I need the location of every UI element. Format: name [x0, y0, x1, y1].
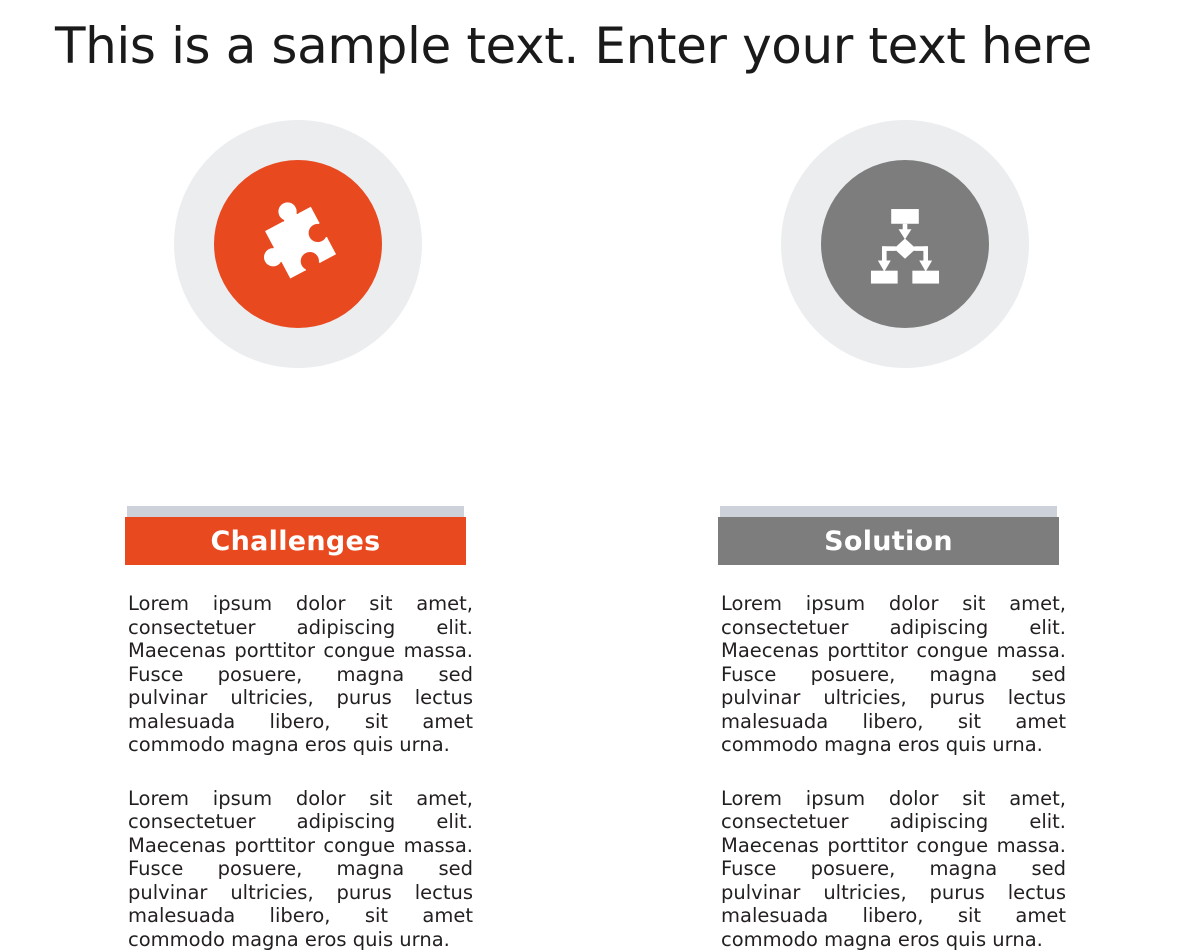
solution-header-label: Solution	[824, 526, 953, 557]
flowchart-hierarchy-icon	[859, 198, 951, 290]
column-solution: Solution Lorem ipsum dolor sit amet, con…	[703, 120, 1073, 368]
column-challenges: Challenges Lorem ipsum dolor sit amet, c…	[110, 120, 480, 368]
icon-disc-orange	[214, 160, 382, 328]
challenges-paragraph-2: Lorem ipsum dolor sit amet, consectetuer…	[128, 787, 473, 951]
page-title: This is a sample text. Enter your text h…	[55, 16, 1125, 76]
solution-header-bar: Solution	[718, 517, 1059, 565]
challenges-body-text: Lorem ipsum dolor sit amet, consectetuer…	[128, 592, 473, 951]
challenges-icon-badge	[174, 120, 422, 368]
puzzle-piece-icon	[250, 196, 346, 292]
challenges-header-bar: Challenges	[125, 517, 466, 565]
solution-paragraph-1: Lorem ipsum dolor sit amet, consectetuer…	[721, 592, 1066, 757]
solution-paragraph-2: Lorem ipsum dolor sit amet, consectetuer…	[721, 787, 1066, 951]
header-strip-accent	[720, 506, 1057, 517]
icon-disc-grey	[821, 160, 989, 328]
solution-icon-badge	[781, 120, 1029, 368]
challenges-header-label: Challenges	[210, 526, 380, 557]
solution-body-text: Lorem ipsum dolor sit amet, consectetuer…	[721, 592, 1066, 951]
solution-header-block: Solution	[718, 506, 1059, 565]
challenges-header-block: Challenges	[125, 506, 466, 565]
header-strip-accent	[127, 506, 464, 517]
challenges-paragraph-1: Lorem ipsum dolor sit amet, consectetuer…	[128, 592, 473, 757]
